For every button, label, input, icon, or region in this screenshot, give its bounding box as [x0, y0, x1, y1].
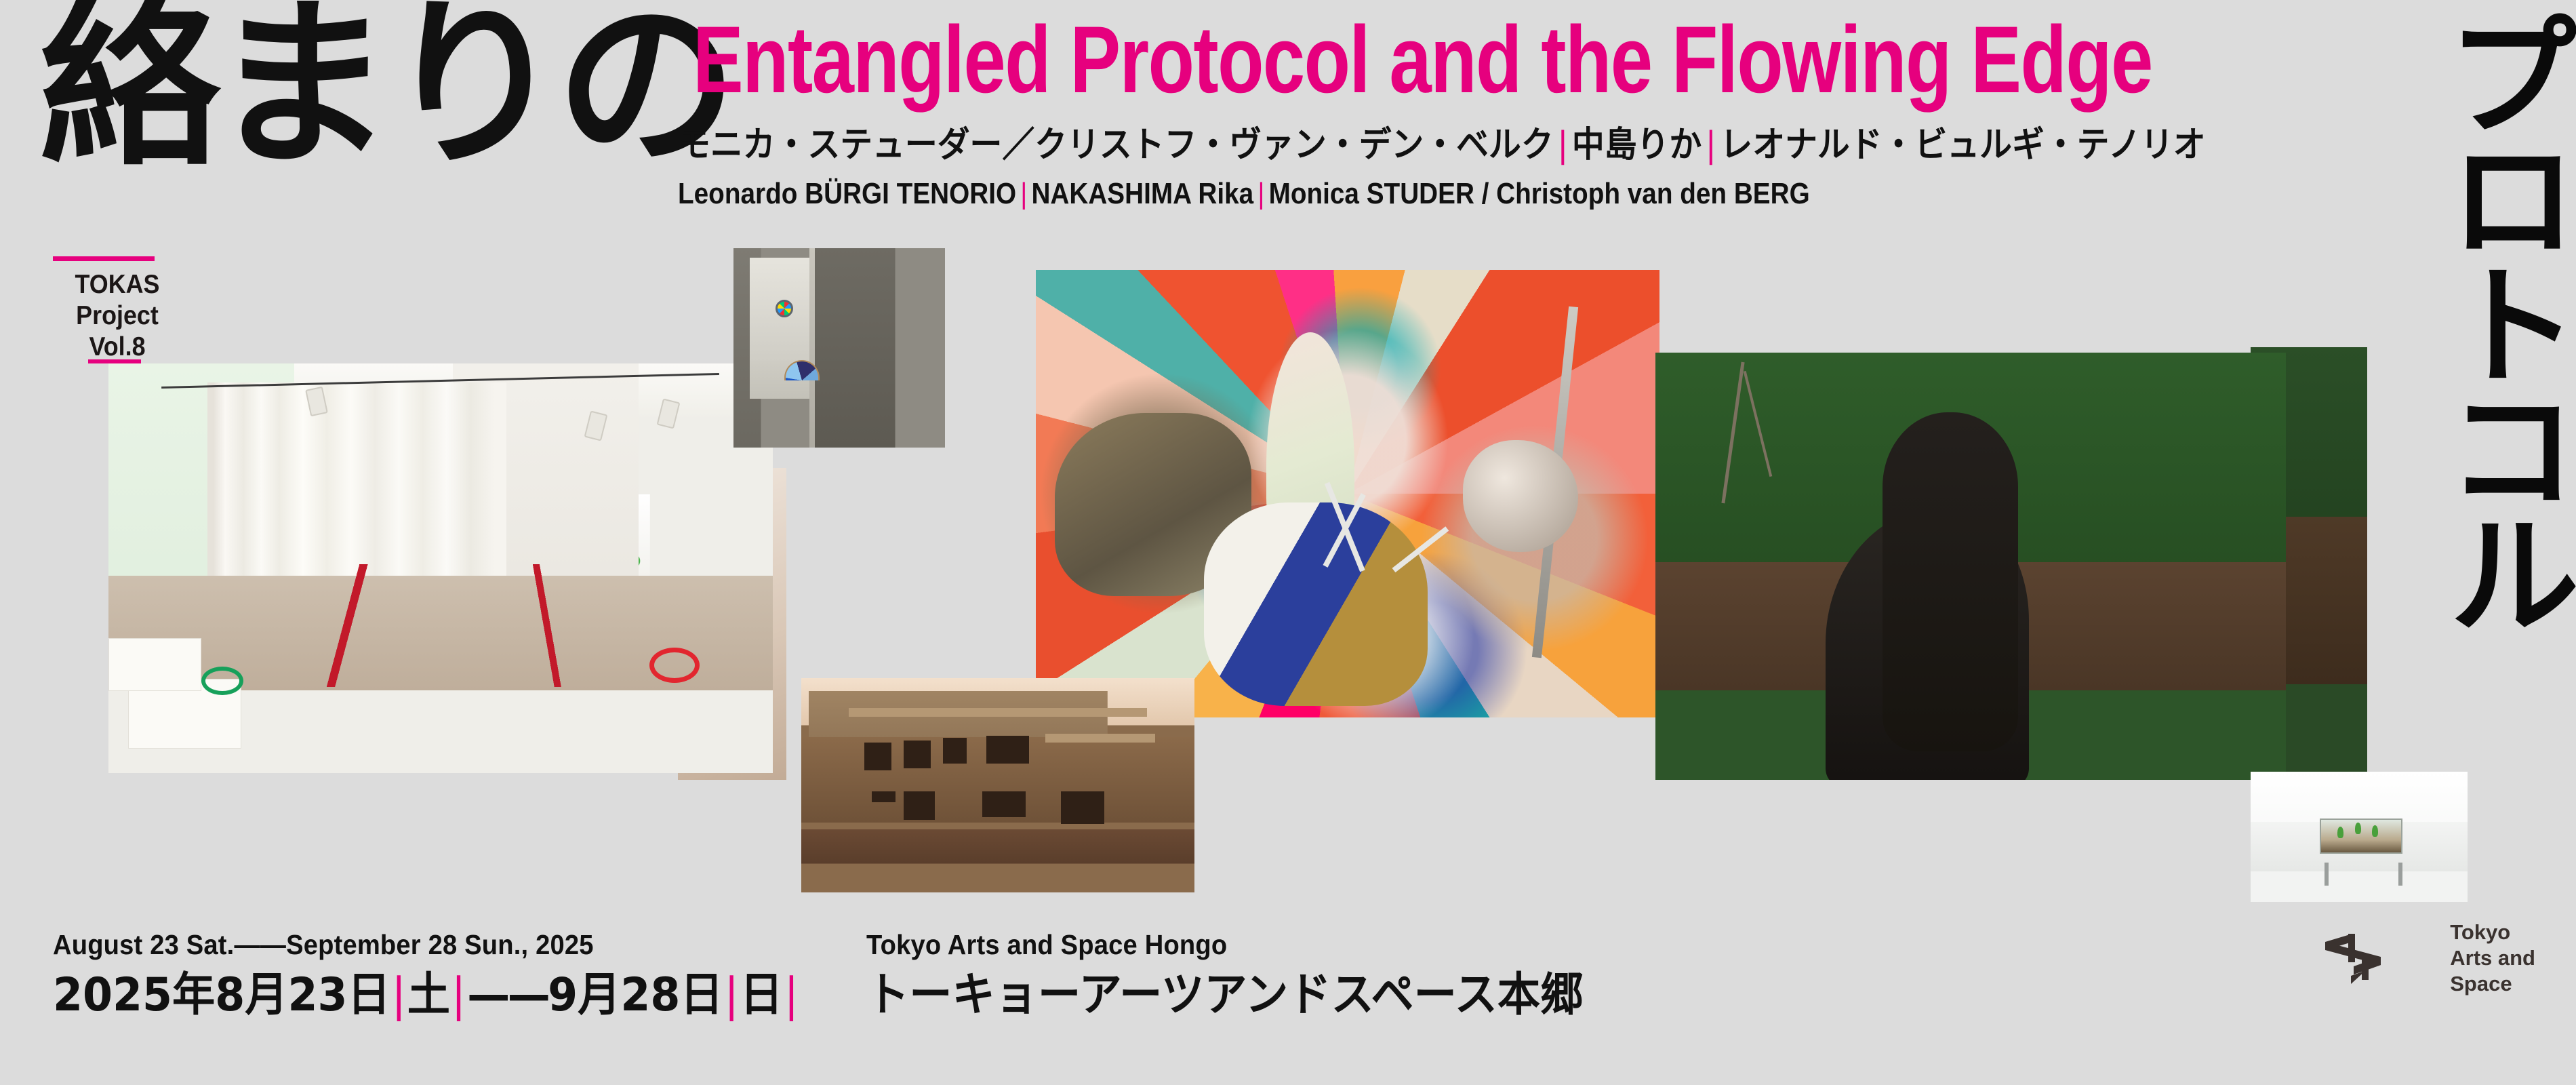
artist-jp-2: 中島りか [1572, 125, 1702, 165]
page-title-jp: 絡まりの [39, 0, 728, 176]
artist-en-3: Monica STUDER / Christoph van den BERG [1269, 177, 1810, 210]
venue-jp: トーキョーアーツアンドスペース本郷 [866, 970, 1583, 1020]
plinth [108, 638, 201, 692]
day-bar-open-1: | [390, 968, 407, 1022]
dates-en: August 23 Sat.——September 28 Sun., 2025 [53, 929, 800, 961]
image-derelict-doorway-interior [733, 248, 945, 448]
image-sepia-ruin-building [801, 678, 1194, 892]
spotlight-icon [584, 411, 607, 441]
day-bar-close-2: | [783, 968, 800, 1022]
dates-jp-dash: —— [467, 968, 548, 1022]
venue-info: Tokyo Arts and Space Hongo トーキョーアーツアンドスペ… [866, 929, 1637, 1020]
badge-rule-bottom [88, 359, 141, 363]
ceiling-rail [161, 373, 719, 389]
exhibition-poster: 絡まりの Entangled Protocol and the Flowing … [0, 0, 2576, 1085]
ruin-window [904, 741, 931, 768]
ruin-window [943, 738, 967, 764]
ruin-window [1061, 791, 1104, 823]
artist-en-1: Leonardo BÜRGI TENORIO [678, 177, 1016, 210]
image-gallery-curtain-installation [108, 363, 773, 773]
dates-jp-day2: 日 [740, 968, 783, 1022]
image-digital-collage-artwork [1036, 270, 1659, 717]
exhibition-dates: August 23 Sat.——September 28 Sun., 2025 … [53, 929, 856, 1020]
glass-terrarium [2320, 818, 2402, 854]
plant-sprout [2355, 823, 2361, 834]
sculpture-lobe-back [1883, 412, 2018, 751]
collage-deer-bottom [1204, 502, 1428, 706]
name-separator-en-2: | [1253, 177, 1268, 210]
tokas-logo-text: Tokyo Arts and Space [2450, 920, 2535, 996]
name-separator-en-1: | [1016, 177, 1031, 210]
badge-line-1: TOKAS [58, 269, 177, 300]
ruin-canopy-slab [1045, 734, 1155, 743]
tokas-logo: Tokyo Arts and Space [2324, 920, 2535, 996]
page-title-vertical-jp: プロトコル [2423, 7, 2565, 631]
ruin-window [904, 791, 935, 819]
name-separator-jp-2: | [1702, 125, 1720, 165]
logo-line-2: Arts and [2450, 945, 2535, 971]
artist-jp-3: レオナルド・ビュルギ・テノリオ [1720, 125, 2205, 165]
ruin-window [982, 791, 1026, 817]
dates-jp: 2025年8月23日|土|——9月28日|日| [53, 970, 800, 1020]
stained-glass-rosette [776, 300, 793, 317]
ruin-roof-slab [849, 708, 1148, 717]
tree-branch [1721, 361, 1744, 503]
tokas-project-badge: TOKAS Project Vol.8 [53, 256, 182, 363]
plant-sprout [2337, 827, 2343, 838]
image-terrarium-vitrine [2251, 772, 2468, 902]
logo-line-1: Tokyo [2450, 920, 2535, 945]
stand-leg [2398, 863, 2402, 886]
logo-line-3: Space [2450, 971, 2535, 997]
tree-branch [1744, 371, 1773, 477]
ruin-window [872, 791, 895, 802]
badge-line-2: Project [58, 300, 177, 332]
blue-fan-sculpture [784, 360, 820, 380]
artist-names-jp: モニカ・ステューダー／クリストフ・ヴァン・デン・ベルク|中島りか|レオナルド・ビ… [678, 126, 2206, 164]
name-separator-jp-1: | [1554, 125, 1572, 165]
day-bar-open-2: | [723, 968, 740, 1022]
ruin-window [986, 736, 1030, 764]
spotlight-icon [305, 387, 328, 417]
venue-en: Tokyo Arts and Space Hongo [866, 929, 1583, 961]
dates-jp-end: 9月28日 [548, 968, 723, 1022]
dates-jp-day1: 土 [407, 968, 450, 1022]
dates-jp-start: 2025年8月23日 [53, 968, 390, 1022]
plant-sprout [2372, 825, 2378, 837]
page-title-en: Entangled Protocol and the Flowing Edge [693, 12, 2152, 107]
artist-names-en: Leonardo BÜRGI TENORIO|NAKASHIMA Rika|Mo… [678, 178, 1810, 210]
artist-en-2: NAKASHIMA Rika [1031, 177, 1253, 210]
ruin-window [864, 743, 892, 770]
image-black-sculpture-woodland [1655, 353, 2286, 780]
badge-rule-top [53, 256, 155, 261]
spotlight-icon [657, 399, 681, 429]
red-cable [649, 648, 700, 683]
tokas-ribbon-mark [2324, 927, 2432, 989]
stand-leg [2325, 863, 2329, 886]
artist-jp-1: モニカ・ステューダー／クリストフ・ヴァン・デン・ベルク [678, 125, 1554, 165]
day-bar-close-1: | [450, 968, 467, 1022]
badge-line-3: Vol.8 [58, 332, 177, 363]
